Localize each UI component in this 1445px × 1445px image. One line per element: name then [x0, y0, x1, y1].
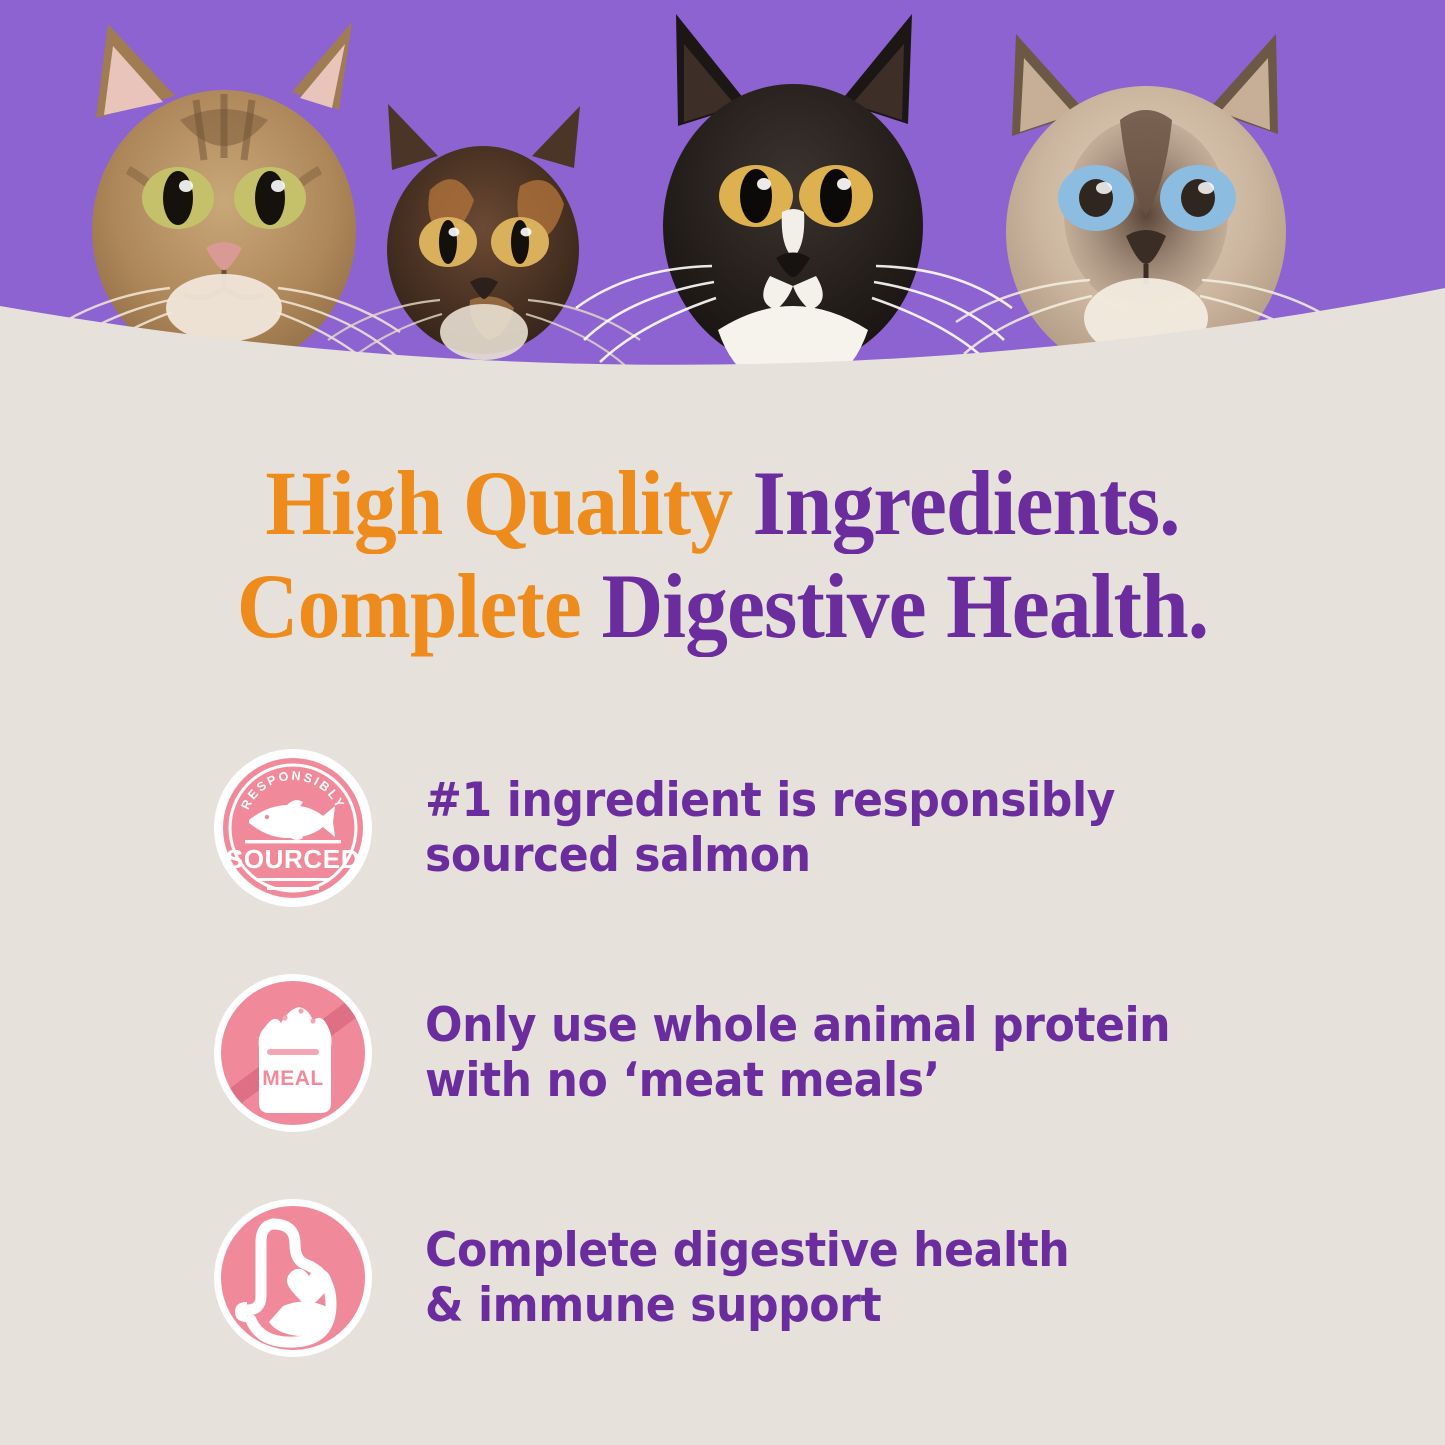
meal-bag-icon: MEAL: [259, 1007, 332, 1113]
ragdoll-cat: [956, 34, 1336, 378]
headline-line-1: High Quality Ingredients.: [51, 452, 1395, 555]
headline-line2-purple: Digestive Health.: [601, 555, 1208, 657]
feature-line-1: Only use whole animal protein: [425, 998, 1170, 1053]
tortoiseshell-kitten: [328, 104, 640, 368]
feature-line-1: Complete digestive health: [425, 1223, 1069, 1278]
cat-illustrations: [0, 0, 1445, 420]
badge-main-text: MEAL: [262, 1067, 324, 1090]
stomach-heart-digestive-badge: [213, 1198, 373, 1358]
feature-line-1: #1 ingredient is responsibly: [425, 773, 1115, 828]
responsibly-sourced-fish-badge: RESPONSIBLY SOURCED: [213, 748, 373, 908]
headline-line1-purple: Ingredients.: [753, 452, 1180, 554]
feature-text: #1 ingredient is responsibly sourced sal…: [425, 773, 1115, 883]
brown-tabby-cat: [48, 22, 400, 374]
page-title: High Quality Ingredients. Complete Diges…: [0, 452, 1445, 658]
feature-list: RESPONSIBLY SOURCED #1 ingredient is res…: [0, 715, 1445, 1390]
list-item: Complete digestive health & immune suppo…: [0, 1165, 1445, 1390]
headline-line1-orange: High Quality: [265, 452, 732, 554]
headline-line-2: Complete Digestive Health.: [51, 555, 1395, 658]
promo-page: High Quality Ingredients. Complete Diges…: [0, 0, 1445, 1445]
feature-line-2: with no ‘meat meals’: [425, 1053, 1170, 1108]
headline-line2-orange: Complete: [237, 555, 581, 657]
feature-text: Only use whole animal protein with no ‘m…: [425, 998, 1170, 1108]
no-meat-meal-bag-badge: MEAL: [213, 973, 373, 1133]
list-item: MEAL Only use whole animal protein with …: [0, 940, 1445, 1165]
list-item: RESPONSIBLY SOURCED #1 ingredient is res…: [0, 715, 1445, 940]
feature-text: Complete digestive health & immune suppo…: [425, 1223, 1069, 1333]
feature-line-2: & immune support: [425, 1278, 1069, 1333]
cat-photo-banner: [0, 0, 1445, 420]
badge-main-text: SOURCED: [226, 844, 360, 874]
feature-line-2: sourced salmon: [425, 828, 1115, 883]
tuxedo-cat: [576, 14, 1012, 390]
